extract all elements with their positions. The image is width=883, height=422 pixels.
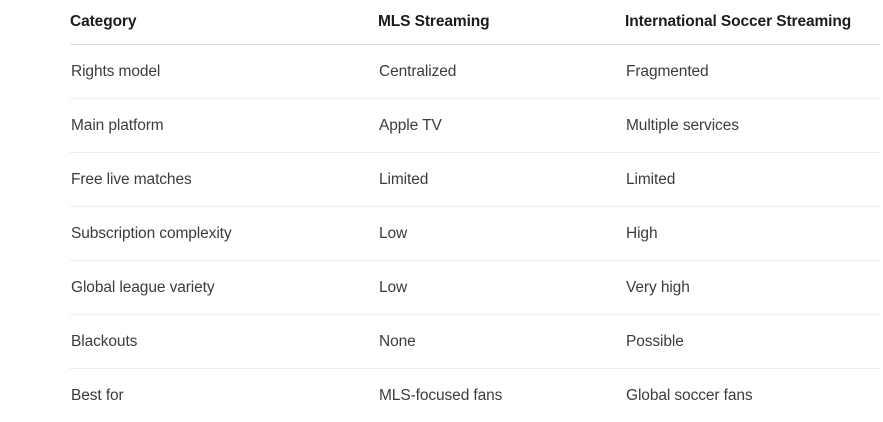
table-row: Main platform Apple TV Multiple services <box>70 99 880 153</box>
cell-mls: Low <box>378 207 625 261</box>
cell-category: Best for <box>70 369 378 422</box>
table-row: Rights model Centralized Fragmented <box>70 45 880 99</box>
cell-intl: Possible <box>625 315 880 369</box>
cell-intl: Fragmented <box>625 45 880 99</box>
cell-category: Subscription complexity <box>70 207 378 261</box>
cell-mls: Centralized <box>378 45 625 99</box>
comparison-table-container: Category MLS Streaming International Soc… <box>70 0 880 410</box>
cell-category: Main platform <box>70 99 378 153</box>
comparison-table: Category MLS Streaming International Soc… <box>70 0 880 422</box>
table-row: Subscription complexity Low High <box>70 207 880 261</box>
cell-intl: High <box>625 207 880 261</box>
table-row: Blackouts None Possible <box>70 315 880 369</box>
cell-intl: Global soccer fans <box>625 369 880 422</box>
cell-category: Free live matches <box>70 153 378 207</box>
column-header-international-soccer-streaming: International Soccer Streaming <box>625 0 880 45</box>
table-row: Free live matches Limited Limited <box>70 153 880 207</box>
table-row: Best for MLS-focused fans Global soccer … <box>70 369 880 422</box>
cell-intl: Multiple services <box>625 99 880 153</box>
cell-mls: Limited <box>378 153 625 207</box>
cell-category: Global league variety <box>70 261 378 315</box>
cell-mls: Low <box>378 261 625 315</box>
cell-category: Rights model <box>70 45 378 99</box>
table-header: Category MLS Streaming International Soc… <box>70 0 880 45</box>
cell-intl: Very high <box>625 261 880 315</box>
cell-category: Blackouts <box>70 315 378 369</box>
table-row: Global league variety Low Very high <box>70 261 880 315</box>
column-header-category: Category <box>70 0 378 45</box>
cell-mls: MLS-focused fans <box>378 369 625 422</box>
table-body: Rights model Centralized Fragmented Main… <box>70 45 880 422</box>
table-header-row: Category MLS Streaming International Soc… <box>70 0 880 45</box>
column-header-mls-streaming: MLS Streaming <box>378 0 625 45</box>
cell-mls: None <box>378 315 625 369</box>
cell-intl: Limited <box>625 153 880 207</box>
cell-mls: Apple TV <box>378 99 625 153</box>
